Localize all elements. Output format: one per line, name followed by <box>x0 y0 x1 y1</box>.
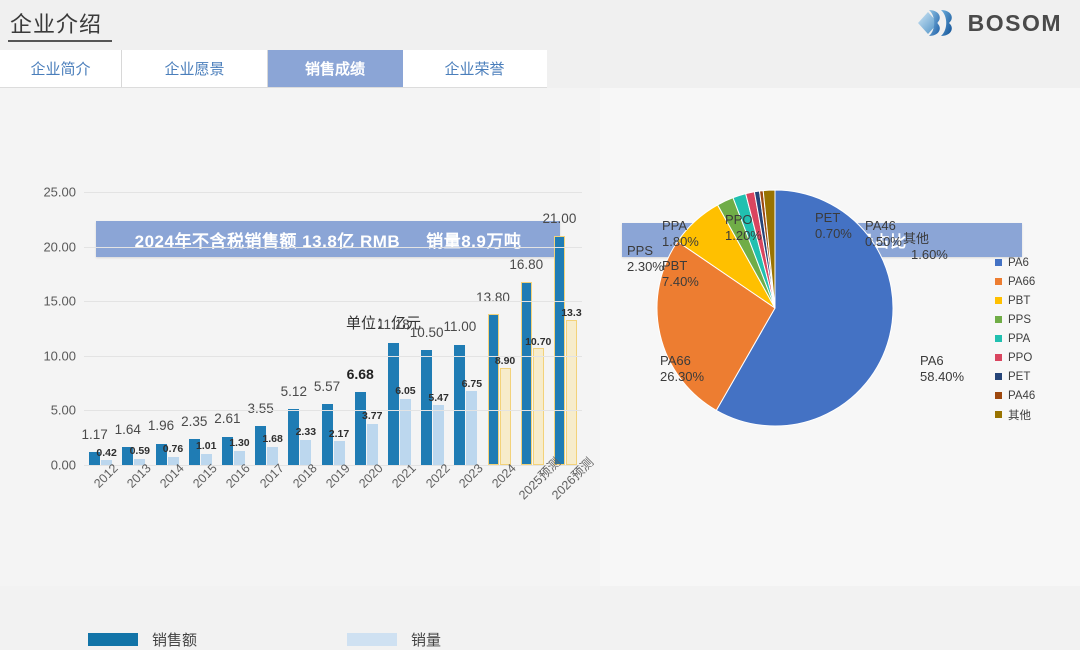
bar-chart-legend: 销售额 销量 <box>88 628 468 650</box>
bar-volume: 6.75 <box>466 391 477 465</box>
legend-label-volume: 销量 <box>411 629 441 650</box>
bar-value-label-sales: 5.57 <box>314 380 340 394</box>
bar-group: 5.122.33 <box>283 192 316 465</box>
y-axis-tick: 10.00 <box>43 348 76 363</box>
y-axis-tick: 25.00 <box>43 185 76 200</box>
x-axis-tick: 2022 <box>416 467 449 527</box>
y-axis-tick: 20.00 <box>43 239 76 254</box>
x-axis-tick: 2026预测 <box>549 467 582 527</box>
pie-legend-swatch <box>995 335 1002 342</box>
x-axis-tick: 2019 <box>316 467 349 527</box>
pie-legend-label: PET <box>1008 371 1030 383</box>
bar-value-label-sales: 6.68 <box>347 367 374 381</box>
pie-label-pps: PPS2.30% <box>627 243 664 276</box>
bar-sales: 11.00 <box>454 345 465 465</box>
pie-legend-item[interactable]: PPO <box>995 348 1080 367</box>
bar-value-label-sales: 2.35 <box>181 415 207 429</box>
legend-label-sales: 销售额 <box>152 629 197 650</box>
bar-volume: 13.3 <box>566 320 577 465</box>
pie-legend-label: PA6 <box>1008 257 1029 269</box>
bar-sales: 11.18 <box>388 343 399 465</box>
gridline <box>84 247 582 248</box>
bar-value-label-volume: 0.59 <box>130 446 150 457</box>
bar-value-label-sales: 3.55 <box>247 402 273 416</box>
bar-sales: 10.50 <box>421 350 432 465</box>
pie-legend-swatch <box>995 278 1002 285</box>
bar-sales: 6.68 <box>355 392 366 465</box>
bar-group: 3.551.68 <box>250 192 283 465</box>
bar-value-label-sales: 21.00 <box>543 212 577 226</box>
pie-legend-label: 其他 <box>1008 407 1031 423</box>
x-axis-tick: 2012 <box>84 467 117 527</box>
legend-swatch-volume <box>347 633 397 646</box>
pie-legend-item[interactable]: PPS <box>995 310 1080 329</box>
x-axis-tick: 2018 <box>283 467 316 527</box>
bar-value-label-volume: 2.17 <box>329 429 349 440</box>
pie-legend-swatch <box>995 354 1002 361</box>
x-axis-tick: 2024 <box>482 467 515 527</box>
bar-group: 13.808.90 <box>482 192 515 465</box>
pie-label-pbt: PBT7.40% <box>662 258 699 291</box>
gridline <box>84 410 582 411</box>
pie-label-ppo: PPO1.20% <box>725 212 762 245</box>
bar-group: 2.611.30 <box>217 192 250 465</box>
x-axis-tick: 2023 <box>449 467 482 527</box>
pie-label-pet: PET0.70% <box>815 210 852 243</box>
bar-value-label-volume: 13.3 <box>561 308 581 319</box>
bar-group: 2.351.01 <box>184 192 217 465</box>
bar-sales: 16.80 <box>521 282 532 465</box>
bar-value-label-sales: 10.50 <box>410 326 444 340</box>
bar-group: 11.006.75 <box>449 192 482 465</box>
bar-value-label-sales: 1.64 <box>115 423 141 437</box>
bar-value-label-volume: 10.70 <box>525 337 551 348</box>
sales-bar-chart: 单位：亿元 1.170.421.640.591.960.762.351.012.… <box>12 180 592 580</box>
bar-value-label-volume: 5.47 <box>428 393 448 404</box>
pie-legend-swatch <box>995 392 1002 399</box>
pie-legend-item[interactable]: PA6 <box>995 253 1080 272</box>
tab-company-honors[interactable]: 企业荣誉 <box>403 50 546 87</box>
bar-volume: 6.05 <box>400 399 411 465</box>
pie-label-pa66: PA6626.30% <box>660 353 704 386</box>
x-axis-tick: 2021 <box>383 467 416 527</box>
pie-legend: PA6PA66PBTPPSPPAPPOPETPA46其他 <box>995 253 1080 424</box>
bar-value-label-sales: 13.80 <box>476 291 510 305</box>
bar-group: 1.960.76 <box>150 192 183 465</box>
pie-svg <box>610 158 940 458</box>
bar-group: 5.572.17 <box>316 192 349 465</box>
x-axis-tick: 2025预测 <box>516 467 549 527</box>
pie-legend-label: PBT <box>1008 295 1030 307</box>
bar-sales: 3.55 <box>255 426 266 465</box>
bar-volume: 3.77 <box>367 424 378 465</box>
bar-value-label-sales: 11.00 <box>443 320 476 334</box>
pie-legend-swatch <box>995 411 1002 418</box>
bar-groups: 1.170.421.640.591.960.762.351.012.611.30… <box>84 192 582 465</box>
pie-legend-item[interactable]: PA46 <box>995 386 1080 405</box>
bar-value-label-volume: 3.77 <box>362 411 382 422</box>
page-title: 企业介绍 <box>10 7 102 39</box>
x-axis-tick: 2015 <box>184 467 217 527</box>
x-axis-tick: 2016 <box>217 467 250 527</box>
bar-value-label-sales: 5.12 <box>281 385 307 399</box>
tab-company-vision[interactable]: 企业愿景 <box>122 50 268 87</box>
bar-value-label-sales: 2.61 <box>214 412 240 426</box>
pie-legend-item[interactable]: PET <box>995 367 1080 386</box>
tab-bar: 企业简介 企业愿景 销售成绩 企业荣誉 <box>0 50 547 88</box>
pie-legend-label: PPS <box>1008 314 1031 326</box>
bar-group: 21.0013.3 <box>549 192 582 465</box>
bar-group: 16.8010.70 <box>516 192 549 465</box>
bar-value-label-volume: 2.33 <box>296 427 316 438</box>
bar-volume: 5.47 <box>433 405 444 465</box>
legend-item-volume: 销量 <box>347 629 441 650</box>
pie-label-ppa: PPA1.80% <box>662 218 699 251</box>
pie-legend-item[interactable]: PBT <box>995 291 1080 310</box>
bar-value-label-volume: 6.05 <box>395 386 415 397</box>
pie-label-pa46: PA460.50% <box>865 218 902 251</box>
bosom-chevron-logo-icon <box>915 6 961 40</box>
x-axis-tick: 2014 <box>150 467 183 527</box>
bar-plot-area: 单位：亿元 1.170.421.640.591.960.762.351.012.… <box>84 192 582 465</box>
pie-legend-swatch <box>995 316 1002 323</box>
bar-volume: 10.70 <box>533 348 544 465</box>
y-axis-tick: 5.00 <box>51 403 76 418</box>
pie-legend-item[interactable]: PA66 <box>995 272 1080 291</box>
title-underline <box>8 40 112 42</box>
pie-legend-label: PA66 <box>1008 276 1035 288</box>
gridline <box>84 192 582 193</box>
bar-value-label-volume: 6.75 <box>462 379 482 390</box>
bar-sales: 13.80 <box>488 314 499 465</box>
pie-label-pa6: PA658.40% <box>920 353 964 386</box>
bar-group: 1.170.42 <box>84 192 117 465</box>
pie-legend-label: PPA <box>1008 333 1030 345</box>
product-pie-chart: PPA1.80% PPO1.20% PPS2.30% PBT7.40% PET0… <box>600 88 1080 586</box>
x-axis: 2012201320142015201620172018201920202021… <box>84 467 582 527</box>
pie-legend-swatch <box>995 373 1002 380</box>
bar-value-label-sales: 11.18 <box>377 318 410 332</box>
x-axis-tick: 2020 <box>350 467 383 527</box>
x-axis-tick: 2017 <box>250 467 283 527</box>
pie-label-other: 其他1.60% <box>903 231 948 264</box>
bar-value-label-volume: 0.76 <box>163 444 183 455</box>
content-area: 2024年不含税销售额 13.8亿 RMB 销量8.9万吨 2024年各产品销量… <box>0 88 1080 586</box>
pie-legend-item[interactable]: PPA <box>995 329 1080 348</box>
pie-legend-swatch <box>995 259 1002 266</box>
pie-legend-label: PA46 <box>1008 390 1035 402</box>
pie-legend-swatch <box>995 297 1002 304</box>
bar-value-label-volume: 1.68 <box>262 434 282 445</box>
gridline <box>84 301 582 302</box>
bar-value-label-volume: 1.30 <box>229 438 249 449</box>
bar-sales: 21.00 <box>554 236 565 465</box>
pie-legend-item[interactable]: 其他 <box>995 405 1080 424</box>
brand-logo-group: BOSOM <box>915 6 1062 40</box>
pie-legend-label: PPO <box>1008 352 1032 364</box>
bar-value-label-volume: 0.42 <box>96 448 116 459</box>
bar-value-label-sales: 1.17 <box>81 428 107 442</box>
bar-volume: 8.90 <box>500 368 511 465</box>
bar-value-label-volume: 1.01 <box>196 441 216 452</box>
gridline <box>84 356 582 357</box>
x-axis-tick: 2013 <box>117 467 150 527</box>
bar-value-label-sales: 1.96 <box>148 419 174 433</box>
y-axis-tick: 0.00 <box>51 458 76 473</box>
bar-value-label-sales: 16.80 <box>509 258 543 272</box>
legend-item-sales: 销售额 <box>88 629 197 650</box>
tab-company-intro[interactable]: 企业简介 <box>0 50 122 87</box>
bar-value-label-volume: 8.90 <box>495 356 515 367</box>
bar-group: 1.640.59 <box>117 192 150 465</box>
legend-swatch-sales <box>88 633 138 646</box>
tab-sales-performance[interactable]: 销售成绩 <box>268 50 403 87</box>
brand-name: BOSOM <box>968 10 1062 37</box>
y-axis-tick: 15.00 <box>43 294 76 309</box>
